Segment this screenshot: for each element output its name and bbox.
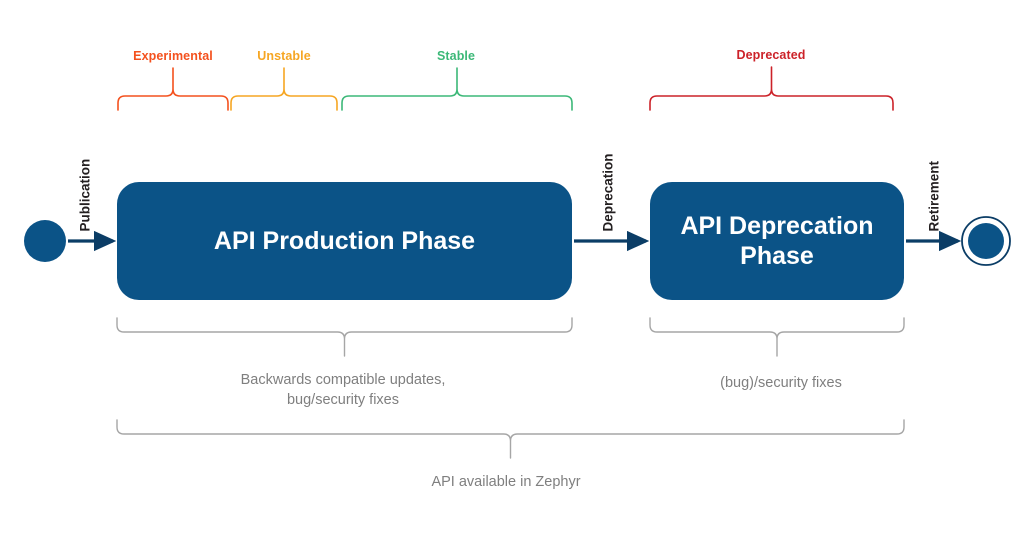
stability-brace-unstable	[231, 68, 337, 110]
brace-label-deprecated: Deprecated	[736, 49, 805, 62]
support-brace-availability	[117, 420, 904, 458]
transition-label-deprecation: Deprecation	[602, 153, 616, 231]
phase-box-api-deprecation-phase[interactable]: API Deprecation Phase	[650, 182, 904, 300]
caption-deprecation-support: (bug)/security fixes	[720, 374, 842, 394]
brace-label-experimental: Experimental	[133, 50, 213, 63]
stability-brace-deprecated	[650, 67, 893, 110]
stability-brace-stable	[342, 68, 572, 110]
phase-box-api-production-phase[interactable]: API Production Phase	[117, 182, 572, 300]
start-event-circle	[24, 220, 66, 262]
transition-label-publication: Publication	[79, 159, 93, 232]
stability-brace-experimental	[118, 68, 228, 110]
api-lifecycle-diagram: Experimental Unstable Stable Deprecated …	[0, 0, 1036, 537]
brace-label-unstable: Unstable	[257, 50, 311, 63]
transition-label-retirement: Retirement	[928, 161, 942, 232]
end-event-circle	[968, 223, 1004, 259]
brace-label-stable: Stable	[437, 50, 475, 63]
caption-production-support: Backwards compatible updates, bug/securi…	[241, 371, 446, 410]
support-brace-deprecation	[650, 318, 904, 356]
caption-api-availability: API available in Zephyr	[431, 473, 580, 493]
support-brace-production	[117, 318, 572, 356]
